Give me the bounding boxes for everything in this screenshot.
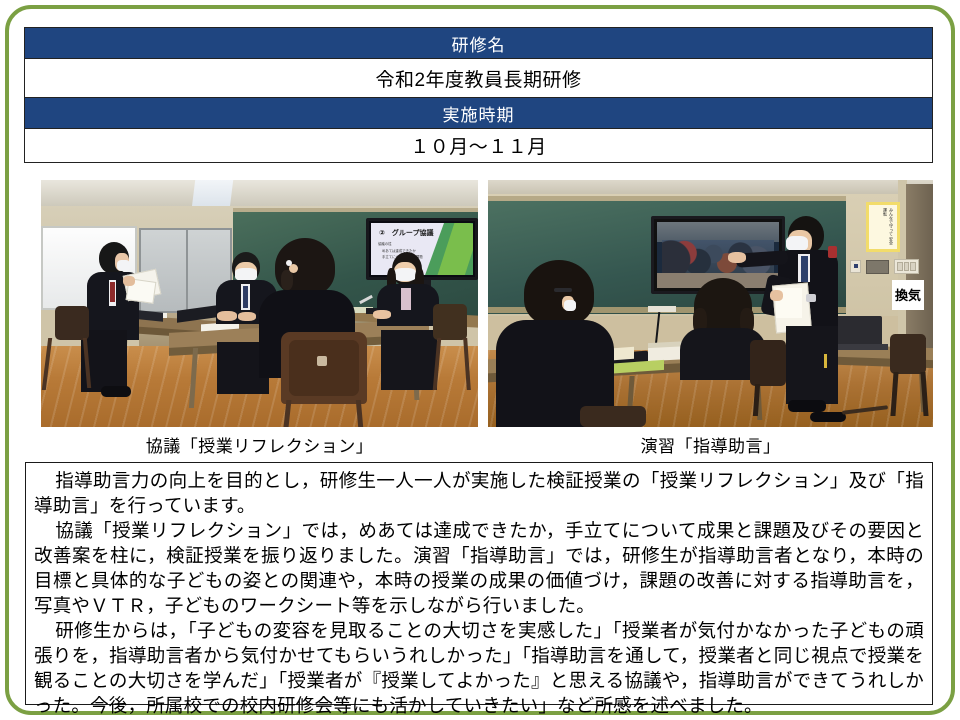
body-paragraph-1: 指導助言力の向上を目的とし，研修生一人一人が実施した検証授業の「授業リフレクショ… xyxy=(34,468,924,518)
sensor-panel xyxy=(850,260,861,273)
table-row-training-name-header: 研修名 xyxy=(25,28,933,59)
person-shoe xyxy=(788,400,826,412)
face-mask-strap xyxy=(286,260,292,266)
value-training-name: 令和2年度教員長期研修 xyxy=(25,59,933,98)
body-paragraph-3: 研修生からは，「子どもの変容を見取ることの大切さを実感した」「授業者が気付かなか… xyxy=(34,618,924,718)
chair-seated-left xyxy=(580,406,646,427)
slide-subtitle: 協議の柱 xyxy=(378,242,392,247)
blouse xyxy=(401,288,411,310)
lanyard xyxy=(824,354,827,368)
value-period: １０月～１１月 xyxy=(25,129,933,163)
photo-left-scene: ② グループ協議 協議の柱 めあては達成できたか 手立てについて成果と課題 xyxy=(41,180,478,427)
necktie xyxy=(110,282,115,302)
table-row-period-value: １０月～１１月 xyxy=(25,129,933,163)
ceiling-right xyxy=(488,180,933,194)
person-shoe xyxy=(101,386,131,397)
eyeglasses xyxy=(554,288,572,292)
wristwatch xyxy=(806,294,816,302)
wall-poster: みんなで守って 安全運転 xyxy=(866,202,900,252)
laptop-base xyxy=(832,344,888,350)
chair-back-panel xyxy=(289,340,359,396)
slide-title: ② グループ協議 xyxy=(379,228,434,238)
chair-label xyxy=(317,356,327,366)
person-hand xyxy=(238,312,256,321)
necktie xyxy=(801,256,808,282)
light-switch-panel xyxy=(894,259,919,274)
label-period: 実施時期 xyxy=(25,98,933,129)
face-mask xyxy=(564,300,576,311)
table-row-period-header: 実施時期 xyxy=(25,98,933,129)
ceiling-left xyxy=(41,180,478,206)
photo-right-scene: みんなで守って 安全運転 換気 xyxy=(488,180,933,427)
face-mask xyxy=(394,268,416,281)
wall-plate-gray xyxy=(866,260,889,274)
person-hand xyxy=(770,290,783,301)
person-legs xyxy=(381,330,437,390)
caption-photo-right: 演習「指導助言」 xyxy=(488,432,933,457)
person-shoe xyxy=(810,412,846,422)
chair-rear-right xyxy=(890,334,926,374)
person-hand xyxy=(373,310,391,319)
label-training-name: 研修名 xyxy=(25,28,933,59)
person-hand xyxy=(123,276,135,286)
presentation-slide: ② グループ協議 協議の柱 めあては達成できたか 手立てについて成果と課題 xyxy=(371,223,473,275)
chair-left xyxy=(55,306,89,340)
hair-strand xyxy=(281,270,293,290)
chalk-tray xyxy=(648,306,676,312)
training-info-table: 研修名 令和2年度教員長期研修 実施時期 １０月～１１月 xyxy=(24,27,933,163)
face-mask xyxy=(117,260,130,271)
person-head-back xyxy=(524,260,594,326)
photo-group-discussion: ② グループ協議 協議の柱 めあては達成できたか 手立てについて成果と課題 xyxy=(41,180,478,427)
description-textbox: 指導助言力の向上を目的とし，研修生一人一人が実施した検証授業の「授業リフレクショ… xyxy=(25,462,933,705)
person-hand xyxy=(217,311,237,321)
lapel-badge xyxy=(828,246,837,258)
body-paragraph-2: 協議「授業リフレクション」では，めあては達成できたか，手立てについて成果と課題及… xyxy=(34,518,924,618)
ventilation-sign: 換気 xyxy=(892,280,924,310)
face-mask xyxy=(786,236,808,251)
person-hand-pointing xyxy=(728,252,746,263)
table-row-training-name-value: 令和2年度教員長期研修 xyxy=(25,59,933,98)
chair-seated-center xyxy=(750,340,786,386)
photo-instruction-advice: みんなで守って 安全運転 換気 xyxy=(488,180,933,427)
person-legs xyxy=(786,326,838,404)
slide-canvas: 研修名 令和2年度教員長期研修 実施時期 １０月～１１月 xyxy=(0,0,960,720)
caption-photo-left: 協議「授業リフレクション」 xyxy=(41,432,478,457)
necktie xyxy=(243,286,248,308)
chair-right xyxy=(433,304,467,340)
wall-poster-text: みんなで守って 安全運転 xyxy=(882,208,894,249)
